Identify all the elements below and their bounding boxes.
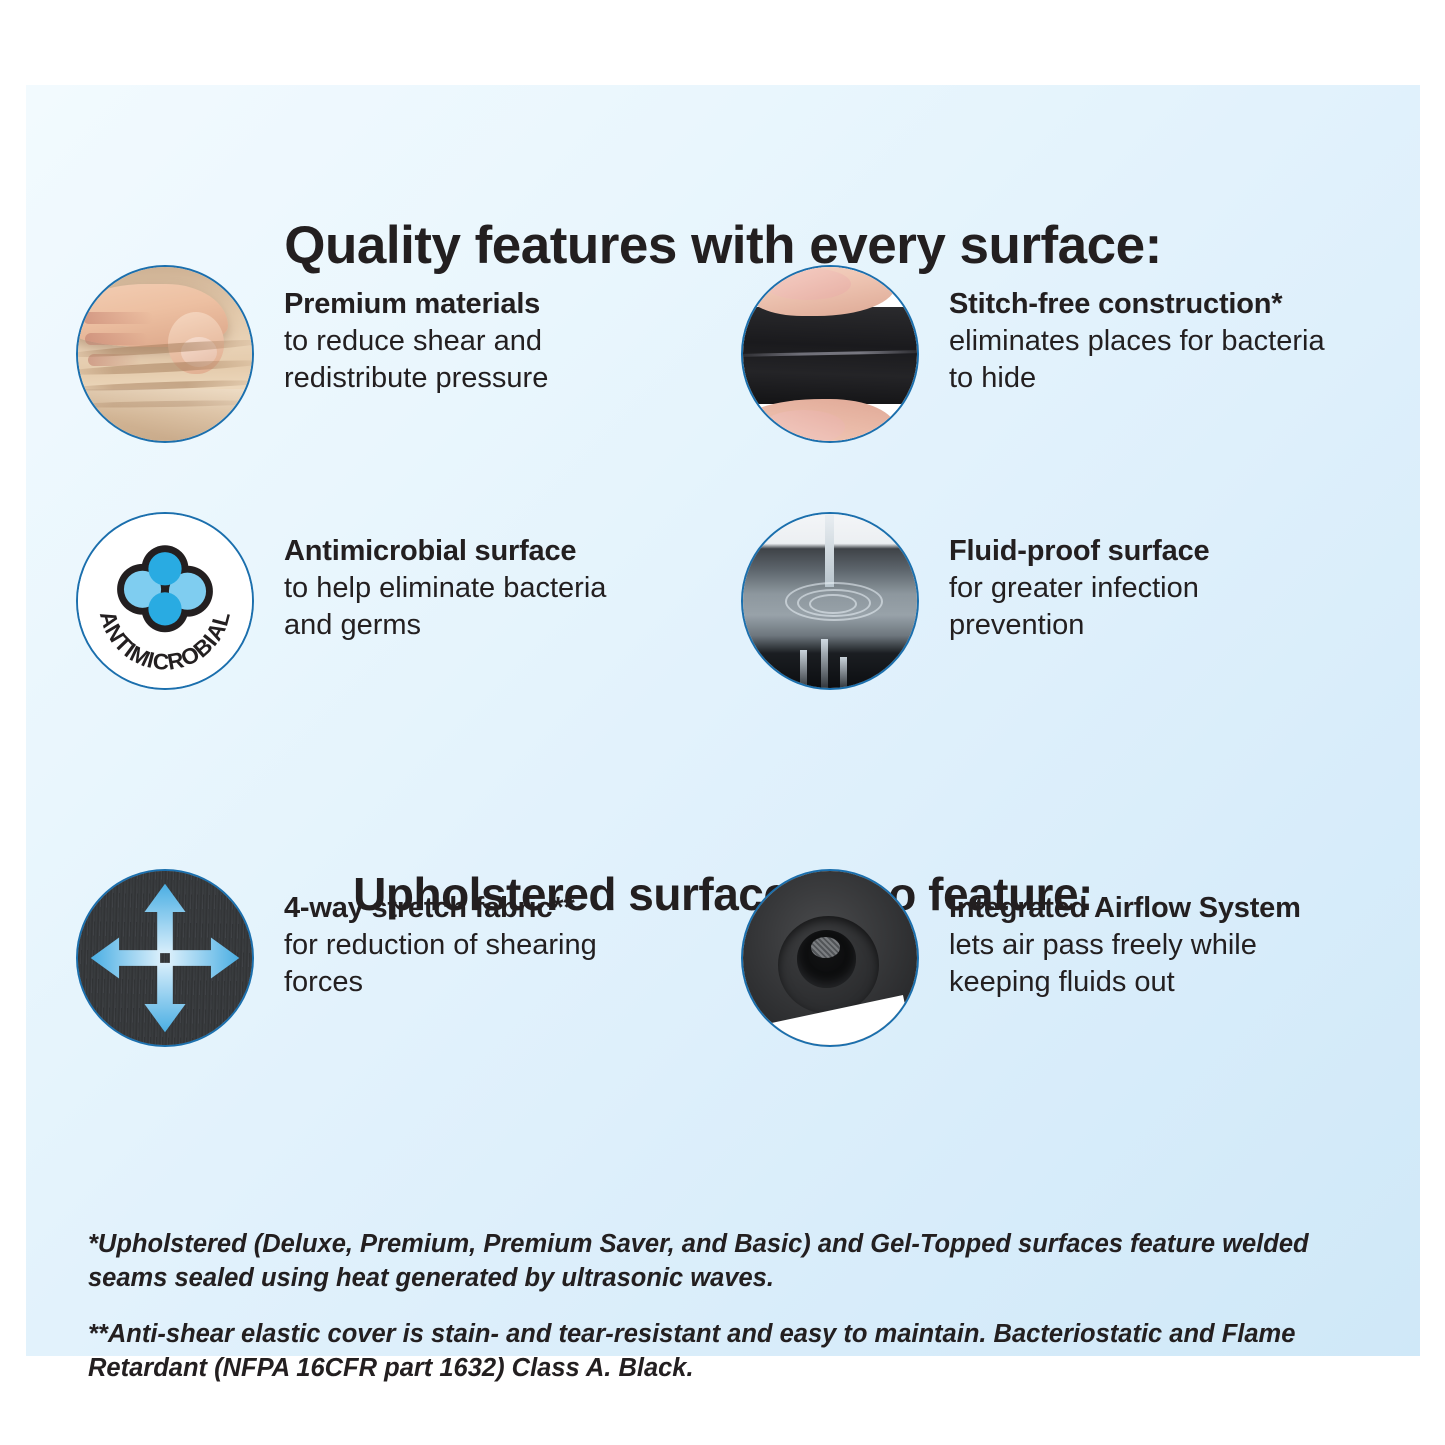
hand-pressing-foam-photo bbox=[76, 265, 254, 443]
feature-heading: Fluid-proof surface bbox=[949, 534, 1209, 569]
feature-copy: 4-way stretch fabric** for reduction of … bbox=[284, 869, 597, 1000]
feature-fluid-proof-surface: Fluid-proof surface for greater infectio… bbox=[741, 512, 1209, 690]
footnote-double-asterisk: **Anti-shear elastic cover is stain- and… bbox=[88, 1318, 1378, 1386]
feature-body: lets air pass freely while keeping fluid… bbox=[949, 927, 1301, 1000]
content-panel: Quality features with every surface: bbox=[26, 85, 1420, 1356]
feature-antimicrobial-surface: ANTIMICROBIAL Antimicrobial surface to h… bbox=[76, 512, 606, 690]
infographic-page: Quality features with every surface: bbox=[0, 0, 1445, 1445]
arrow-left-icon bbox=[91, 937, 160, 978]
feature-heading: 4-way stretch fabric** bbox=[284, 891, 597, 926]
arrow-down-icon bbox=[144, 963, 185, 1032]
water-stream-on-surface-photo bbox=[741, 512, 919, 690]
feature-body: for reduction of shearing forces bbox=[284, 927, 597, 1000]
feature-integrated-airflow-system: Integrated Airflow System lets air pass … bbox=[741, 869, 1301, 1047]
feature-copy: Premium materials to reduce shear and re… bbox=[284, 265, 548, 396]
feature-stitch-free-construction: Stitch-free construction* eliminates pla… bbox=[741, 265, 1325, 443]
arrow-right-icon bbox=[170, 937, 239, 978]
feature-heading: Integrated Airflow System bbox=[949, 891, 1301, 926]
feature-body: to reduce shear and redistribute pressur… bbox=[284, 323, 548, 396]
feature-body: eliminates places for bacteria to hide bbox=[949, 323, 1325, 396]
feature-copy: Fluid-proof surface for greater infectio… bbox=[949, 512, 1209, 643]
feature-body: for greater infection prevention bbox=[949, 570, 1209, 643]
antimicrobial-badge-icon: ANTIMICROBIAL bbox=[76, 512, 254, 690]
feature-heading: Premium materials bbox=[284, 287, 548, 322]
feature-heading: Antimicrobial surface bbox=[284, 534, 606, 569]
airflow-grommet-photo bbox=[741, 869, 919, 1047]
feature-copy: Antimicrobial surface to help eliminate … bbox=[284, 512, 606, 643]
feature-heading: Stitch-free construction* bbox=[949, 287, 1325, 322]
feature-copy: Stitch-free construction* eliminates pla… bbox=[949, 265, 1325, 396]
footnotes: *Upholstered (Deluxe, Premium, Premium S… bbox=[88, 1228, 1378, 1408]
four-way-stretch-arrows-icon bbox=[76, 869, 254, 1047]
arrow-up-icon bbox=[144, 884, 185, 953]
feature-copy: Integrated Airflow System lets air pass … bbox=[949, 869, 1301, 1000]
feature-premium-materials: Premium materials to reduce shear and re… bbox=[76, 265, 548, 443]
feature-four-way-stretch-fabric: 4-way stretch fabric** for reduction of … bbox=[76, 869, 597, 1047]
fingers-pinching-seam-photo bbox=[741, 265, 919, 443]
footnote-single-asterisk: *Upholstered (Deluxe, Premium, Premium S… bbox=[88, 1228, 1378, 1296]
feature-body: to help eliminate bacteria and germs bbox=[284, 570, 606, 643]
